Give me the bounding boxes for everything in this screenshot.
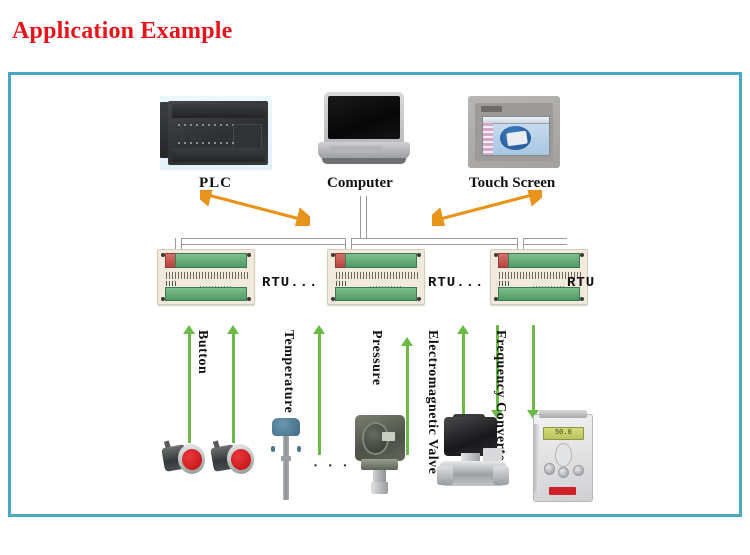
rtu-top-terminal (345, 253, 417, 268)
rtu-module-icon (327, 249, 425, 305)
rtu-screw-br (247, 297, 251, 301)
temperature-sensor-icon (272, 418, 300, 500)
rtu-dip-row (336, 272, 419, 279)
laptop-base (318, 142, 410, 159)
rtu-screw-tr (417, 253, 421, 257)
rtu-screw-tr (580, 253, 584, 257)
rtu-top-terminal (175, 253, 247, 268)
temperature-probe (283, 434, 289, 500)
plc-bottom-terminal (172, 148, 265, 162)
laptop-screen (328, 96, 401, 139)
link-arrow-touchscreen (432, 190, 542, 226)
vfd-knob-center[interactable] (558, 467, 569, 478)
vfd-display: 50.0 (543, 427, 583, 440)
hmi-bezel (475, 103, 553, 161)
laptop-foot (322, 158, 407, 163)
bus-trunk (175, 238, 567, 245)
ellipsis-marker: · · · (313, 458, 351, 475)
pressure-transmitter-icon (352, 408, 408, 496)
rtu-screw-tl (494, 253, 498, 257)
rtu-screw-tr (247, 253, 251, 257)
push-button-icon (212, 441, 254, 479)
hmi-panel-icon (468, 96, 560, 168)
temperature-ear-left (271, 446, 275, 453)
rtu-screw-bl (331, 297, 335, 301)
valve-port-right (493, 466, 509, 484)
plc-module-icon (160, 96, 272, 170)
vfd-logo (549, 487, 576, 495)
rtu-bottom-terminal (335, 287, 418, 301)
rtu-screw-tl (161, 253, 165, 257)
plc-body (168, 101, 268, 165)
vfd-keypad (555, 443, 572, 467)
plc-top-terminal (172, 104, 265, 118)
field-label-button: Button (194, 330, 210, 374)
rtu-screw-bl (161, 297, 165, 301)
rtu-screw-br (417, 297, 421, 301)
hmi-display (482, 116, 550, 156)
rtu-label-1: RTU... (262, 275, 318, 291)
plc-top-dots (178, 124, 238, 126)
slide-canvas: Application Example PLC Computer (0, 0, 750, 555)
temperature-nut (281, 456, 291, 461)
valve-port-left (437, 466, 453, 484)
signal-arrow-button-2 (227, 325, 239, 443)
page-title: Application Example (12, 18, 233, 45)
rtu-module-icon (157, 249, 255, 305)
vfd-knob-right[interactable] (573, 465, 584, 476)
bus-drop-computer (360, 196, 367, 244)
push-button-icon (163, 441, 205, 479)
rtu-chip (336, 281, 348, 286)
vfd-mounting-bracket (539, 410, 588, 418)
rtu-chip (499, 281, 511, 286)
temperature-head (272, 418, 300, 436)
laptop-touchpad (353, 154, 368, 157)
vfd-side-panel (534, 424, 539, 493)
plc-access-panel (233, 124, 262, 149)
rtu-screw-bl (494, 297, 498, 301)
laptop-keyboard (329, 146, 382, 153)
rtu-screw-tl (331, 253, 335, 257)
signal-arrow-temperature (313, 325, 325, 455)
pressure-window (382, 432, 395, 441)
solenoid-valve-icon (437, 414, 509, 498)
pressure-housing (355, 415, 404, 461)
rtu-top-terminal (508, 253, 580, 268)
pressure-process-connection (371, 482, 388, 494)
hmi-brand-strip (481, 106, 501, 111)
rtu-screw-br (580, 297, 584, 301)
rtu-label-3: RTU (567, 275, 595, 291)
link-arrow-plc (200, 190, 310, 226)
hmi-side-menu (483, 123, 493, 155)
field-label-pressure: Pressure (368, 330, 384, 386)
rtu-chip (166, 281, 178, 286)
laptop-lid (324, 92, 405, 143)
rtu-dip-row (166, 272, 249, 279)
vfd-drive-icon: 50.0 (533, 414, 593, 502)
hmi-ship-graphic (506, 131, 527, 147)
computer-label: Computer (327, 175, 393, 192)
field-label-temperature: Temperature (280, 330, 296, 413)
rtu-bottom-terminal (165, 287, 248, 301)
vfd-knob-left[interactable] (544, 463, 555, 474)
plc-bottom-dots (178, 142, 238, 144)
rtu-label-2: RTU... (428, 275, 484, 291)
laptop-icon (318, 92, 410, 170)
signal-arrow-frequency-converter (527, 325, 539, 419)
